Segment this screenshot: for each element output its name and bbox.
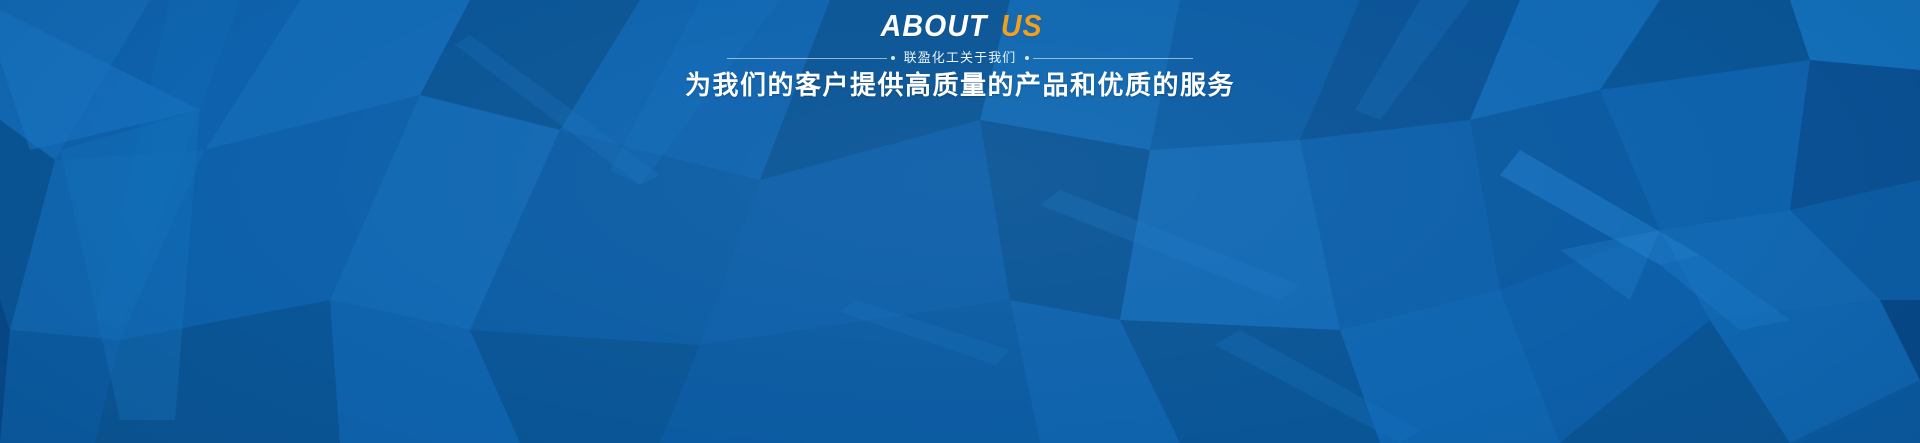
page-headline: 为我们的客户提供高质量的产品和优质的服务: [0, 69, 1920, 101]
horizontal-rule-icon: [727, 58, 887, 59]
about-us-banner: ABOUTUS 联盈化工关于我们 为我们的客户提供高质量的产品和优质的服务: [0, 0, 1920, 443]
subtitle-row: 联盈化工关于我们: [0, 50, 1920, 66]
divider-left: [727, 54, 895, 62]
dot-icon: [1025, 56, 1029, 60]
eyebrow-title: ABOUTUS: [0, 9, 1920, 43]
subtitle-text: 联盈化工关于我们: [904, 50, 1017, 66]
dot-icon: [891, 56, 895, 60]
divider-right: [1025, 54, 1193, 62]
eyebrow-word-us: US: [1001, 9, 1043, 43]
banner-content: ABOUTUS 联盈化工关于我们 为我们的客户提供高质量的产品和优质的服务: [0, 0, 1920, 101]
horizontal-rule-icon: [1033, 58, 1193, 59]
eyebrow-word-about: ABOUT: [880, 9, 987, 43]
